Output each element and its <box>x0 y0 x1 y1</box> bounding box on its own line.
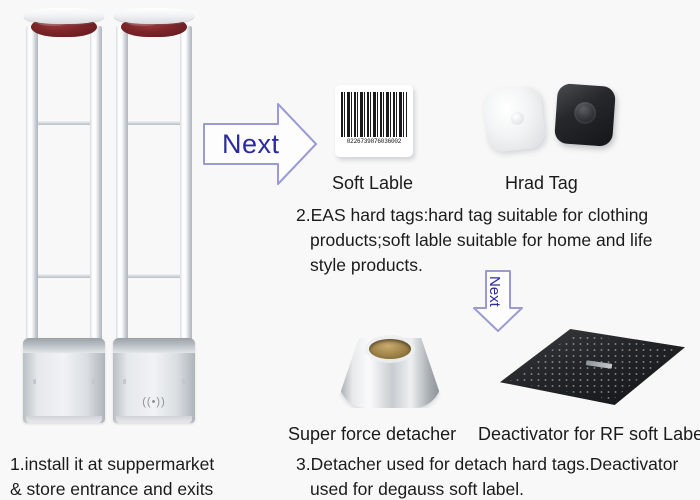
gate-base-screw <box>33 379 36 384</box>
detacher-caption: Super force detacher <box>288 424 456 445</box>
note-2: 2.EAS hard tags:hard tag suitable for cl… <box>296 203 696 278</box>
gate-crossbar-lower <box>34 273 94 278</box>
hard-tag-white-image <box>482 85 546 153</box>
gate-base-screw <box>92 379 95 384</box>
gate-post-left <box>26 26 38 376</box>
gate-crossbar-upper <box>34 120 94 125</box>
note-2-line-2: products;soft lable suitable for home an… <box>296 228 696 253</box>
gate-crossbar-lower <box>124 273 184 278</box>
signal-icon: ((•)) <box>142 396 166 408</box>
note-1-line-2: & store entrance and exits <box>10 479 213 499</box>
note-1: 1.install it at suppermarket & store ent… <box>10 452 290 500</box>
barcode-number: 0226739876036002 <box>341 138 407 145</box>
note-2-line-1: 2.EAS hard tags:hard tag suitable for cl… <box>296 205 648 225</box>
gate-post-left <box>116 26 128 376</box>
barcode-icon <box>341 92 407 137</box>
gate-post-right <box>180 26 192 376</box>
deactivator-product-image <box>500 325 685 413</box>
gate-top-cap <box>24 8 104 24</box>
gate-base-screw <box>182 379 185 384</box>
eas-gate-right: ((•)) <box>114 8 194 423</box>
next-arrow-right-label: Next <box>222 129 280 160</box>
gate-top-cap <box>114 8 194 24</box>
note-1-line-1: 1.install it at suppermarket <box>10 454 214 474</box>
hard-tag-black-image <box>554 83 616 147</box>
hard-tag-caption: Hrad Tag <box>505 173 578 194</box>
detacher-center-hole <box>369 339 411 359</box>
gate-base-foot <box>26 416 102 423</box>
product-infographic: ((•)) Next 0226739876036002 Soft Lable H… <box>0 0 700 500</box>
gate-post-right <box>90 26 102 376</box>
next-arrow-down-label: Next <box>486 276 503 320</box>
gate-base-top <box>113 338 195 353</box>
detacher-product-image <box>330 330 450 412</box>
gate-base-top <box>23 338 105 353</box>
next-arrow-down: Next <box>470 268 526 334</box>
gate-base-screw <box>123 379 126 384</box>
note-3: 3.Detacher used for detach hard tags.Dea… <box>296 452 700 500</box>
soft-label-caption: Soft Lable <box>332 173 413 194</box>
next-arrow-right: Next <box>200 98 320 190</box>
gate-base-foot <box>116 416 192 423</box>
deactivator-caption: Deactivator for RF soft Labe <box>478 424 700 445</box>
note-3-line-1: 3.Detacher used for detach hard tags.Dea… <box>296 454 678 474</box>
gate-crossbar-upper <box>124 120 184 125</box>
soft-label-product-image: 0226739876036002 <box>335 85 413 157</box>
gate-base <box>23 338 105 423</box>
note-3-line-2: used for degauss soft label. <box>296 477 700 500</box>
eas-gate-left <box>24 8 104 423</box>
gate-base: ((•)) <box>113 338 195 423</box>
